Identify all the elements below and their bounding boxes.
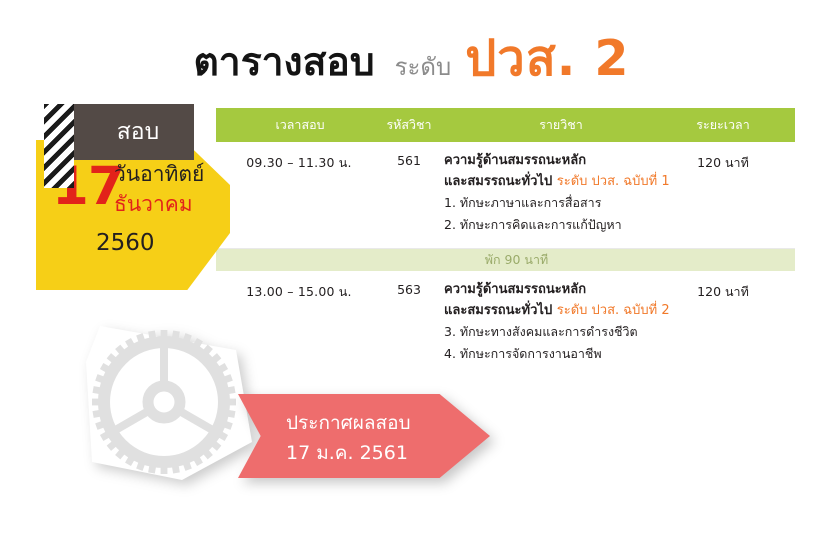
subject-line-2-text: และสมรรถนะทั่วไป bbox=[444, 174, 552, 189]
exam-tab-label: สอบ bbox=[72, 104, 194, 160]
result-banner-date: 17 ม.ค. 2561 bbox=[286, 444, 466, 463]
subject-line-2: และสมรรถนะทั่วไป ระดับ ปวส. ฉบับที่ 2 bbox=[444, 300, 674, 321]
subject-level-tag: ระดับ ปวส. ฉบับที่ 1 bbox=[557, 174, 670, 189]
break-row: พัก 90 นาที bbox=[216, 249, 795, 271]
exam-date-weekday: วันอาทิตย์ bbox=[114, 164, 204, 185]
table-row: 09.30 – 11.30 น. 561 120 นาที ความรู้ด้า… bbox=[216, 142, 795, 249]
cell-subject: ความรู้ด้านสมรรถนะหลัก และสมรรถนะทั่วไป … bbox=[444, 279, 674, 366]
exam-date-year: 2560 bbox=[96, 232, 155, 255]
column-header-code: รหัสวิชา bbox=[364, 108, 454, 142]
cell-time: 09.30 – 11.30 น. bbox=[224, 153, 374, 173]
subject-level-tag: ระดับ ปวส. ฉบับที่ 2 bbox=[557, 303, 670, 318]
column-header-subject: รายวิชา bbox=[466, 108, 656, 142]
exam-date-month: ธันวาคม bbox=[114, 194, 193, 215]
table-row: 13.00 – 15.00 น. 563 120 นาที ความรู้ด้า… bbox=[216, 271, 795, 378]
table-header-bar: เวลาสอบ รหัสวิชา รายวิชา ระยะเวลา bbox=[216, 108, 795, 142]
subject-line-2-text: และสมรรถนะทั่วไป bbox=[444, 303, 552, 318]
infographic-canvas: ตารางสอบ ระดับ ปวส. 2 เวลาสอบ รหัสวิชา ร… bbox=[0, 0, 823, 549]
hazard-stripes-icon bbox=[44, 104, 74, 188]
cell-duration: 120 นาที bbox=[668, 153, 778, 173]
subject-item: 4. ทักษะการจัดการงานอาชีพ bbox=[444, 343, 674, 365]
cell-time: 13.00 – 15.00 น. bbox=[224, 282, 374, 302]
cell-subject: ความรู้ด้านสมรรถนะหลัก และสมรรถนะทั่วไป … bbox=[444, 150, 674, 237]
cell-duration: 120 นาที bbox=[668, 282, 778, 302]
subject-item: 3. ทักษะทางสังคมและการดำรงชีวิต bbox=[444, 321, 674, 343]
subject-item: 2. ทักษะการคิดและการแก้ปัญหา bbox=[444, 214, 674, 236]
subject-line-1: ความรู้ด้านสมรรถนะหลัก bbox=[444, 150, 674, 171]
cell-code: 561 bbox=[364, 153, 454, 168]
column-header-duration: ระยะเวลา bbox=[668, 108, 778, 142]
result-banner-title: ประกาศผลสอบ bbox=[286, 414, 466, 433]
subject-line-2: และสมรรถนะทั่วไป ระดับ ปวส. ฉบับที่ 1 bbox=[444, 171, 674, 192]
subject-item: 1. ทักษะภาษาและการสื่อสาร bbox=[444, 192, 674, 214]
subject-line-1: ความรู้ด้านสมรรถนะหลัก bbox=[444, 279, 674, 300]
result-announcement-banner: ประกาศผลสอบ 17 ม.ค. 2561 bbox=[238, 394, 490, 478]
cell-code: 563 bbox=[364, 282, 454, 297]
result-banner-shape bbox=[238, 394, 490, 478]
column-header-time: เวลาสอบ bbox=[240, 108, 360, 142]
title-program-text: ปวส. 2 bbox=[465, 34, 629, 83]
page-title: ตารางสอบ ระดับ ปวส. 2 bbox=[0, 34, 823, 96]
break-label: พัก 90 นาที bbox=[216, 249, 795, 271]
exam-schedule-table: 09.30 – 11.30 น. 561 120 นาที ความรู้ด้า… bbox=[216, 142, 795, 378]
title-main-text: ตารางสอบ bbox=[193, 43, 374, 82]
exam-tab: สอบ bbox=[72, 104, 194, 160]
title-level-prefix: ระดับ bbox=[389, 55, 452, 79]
